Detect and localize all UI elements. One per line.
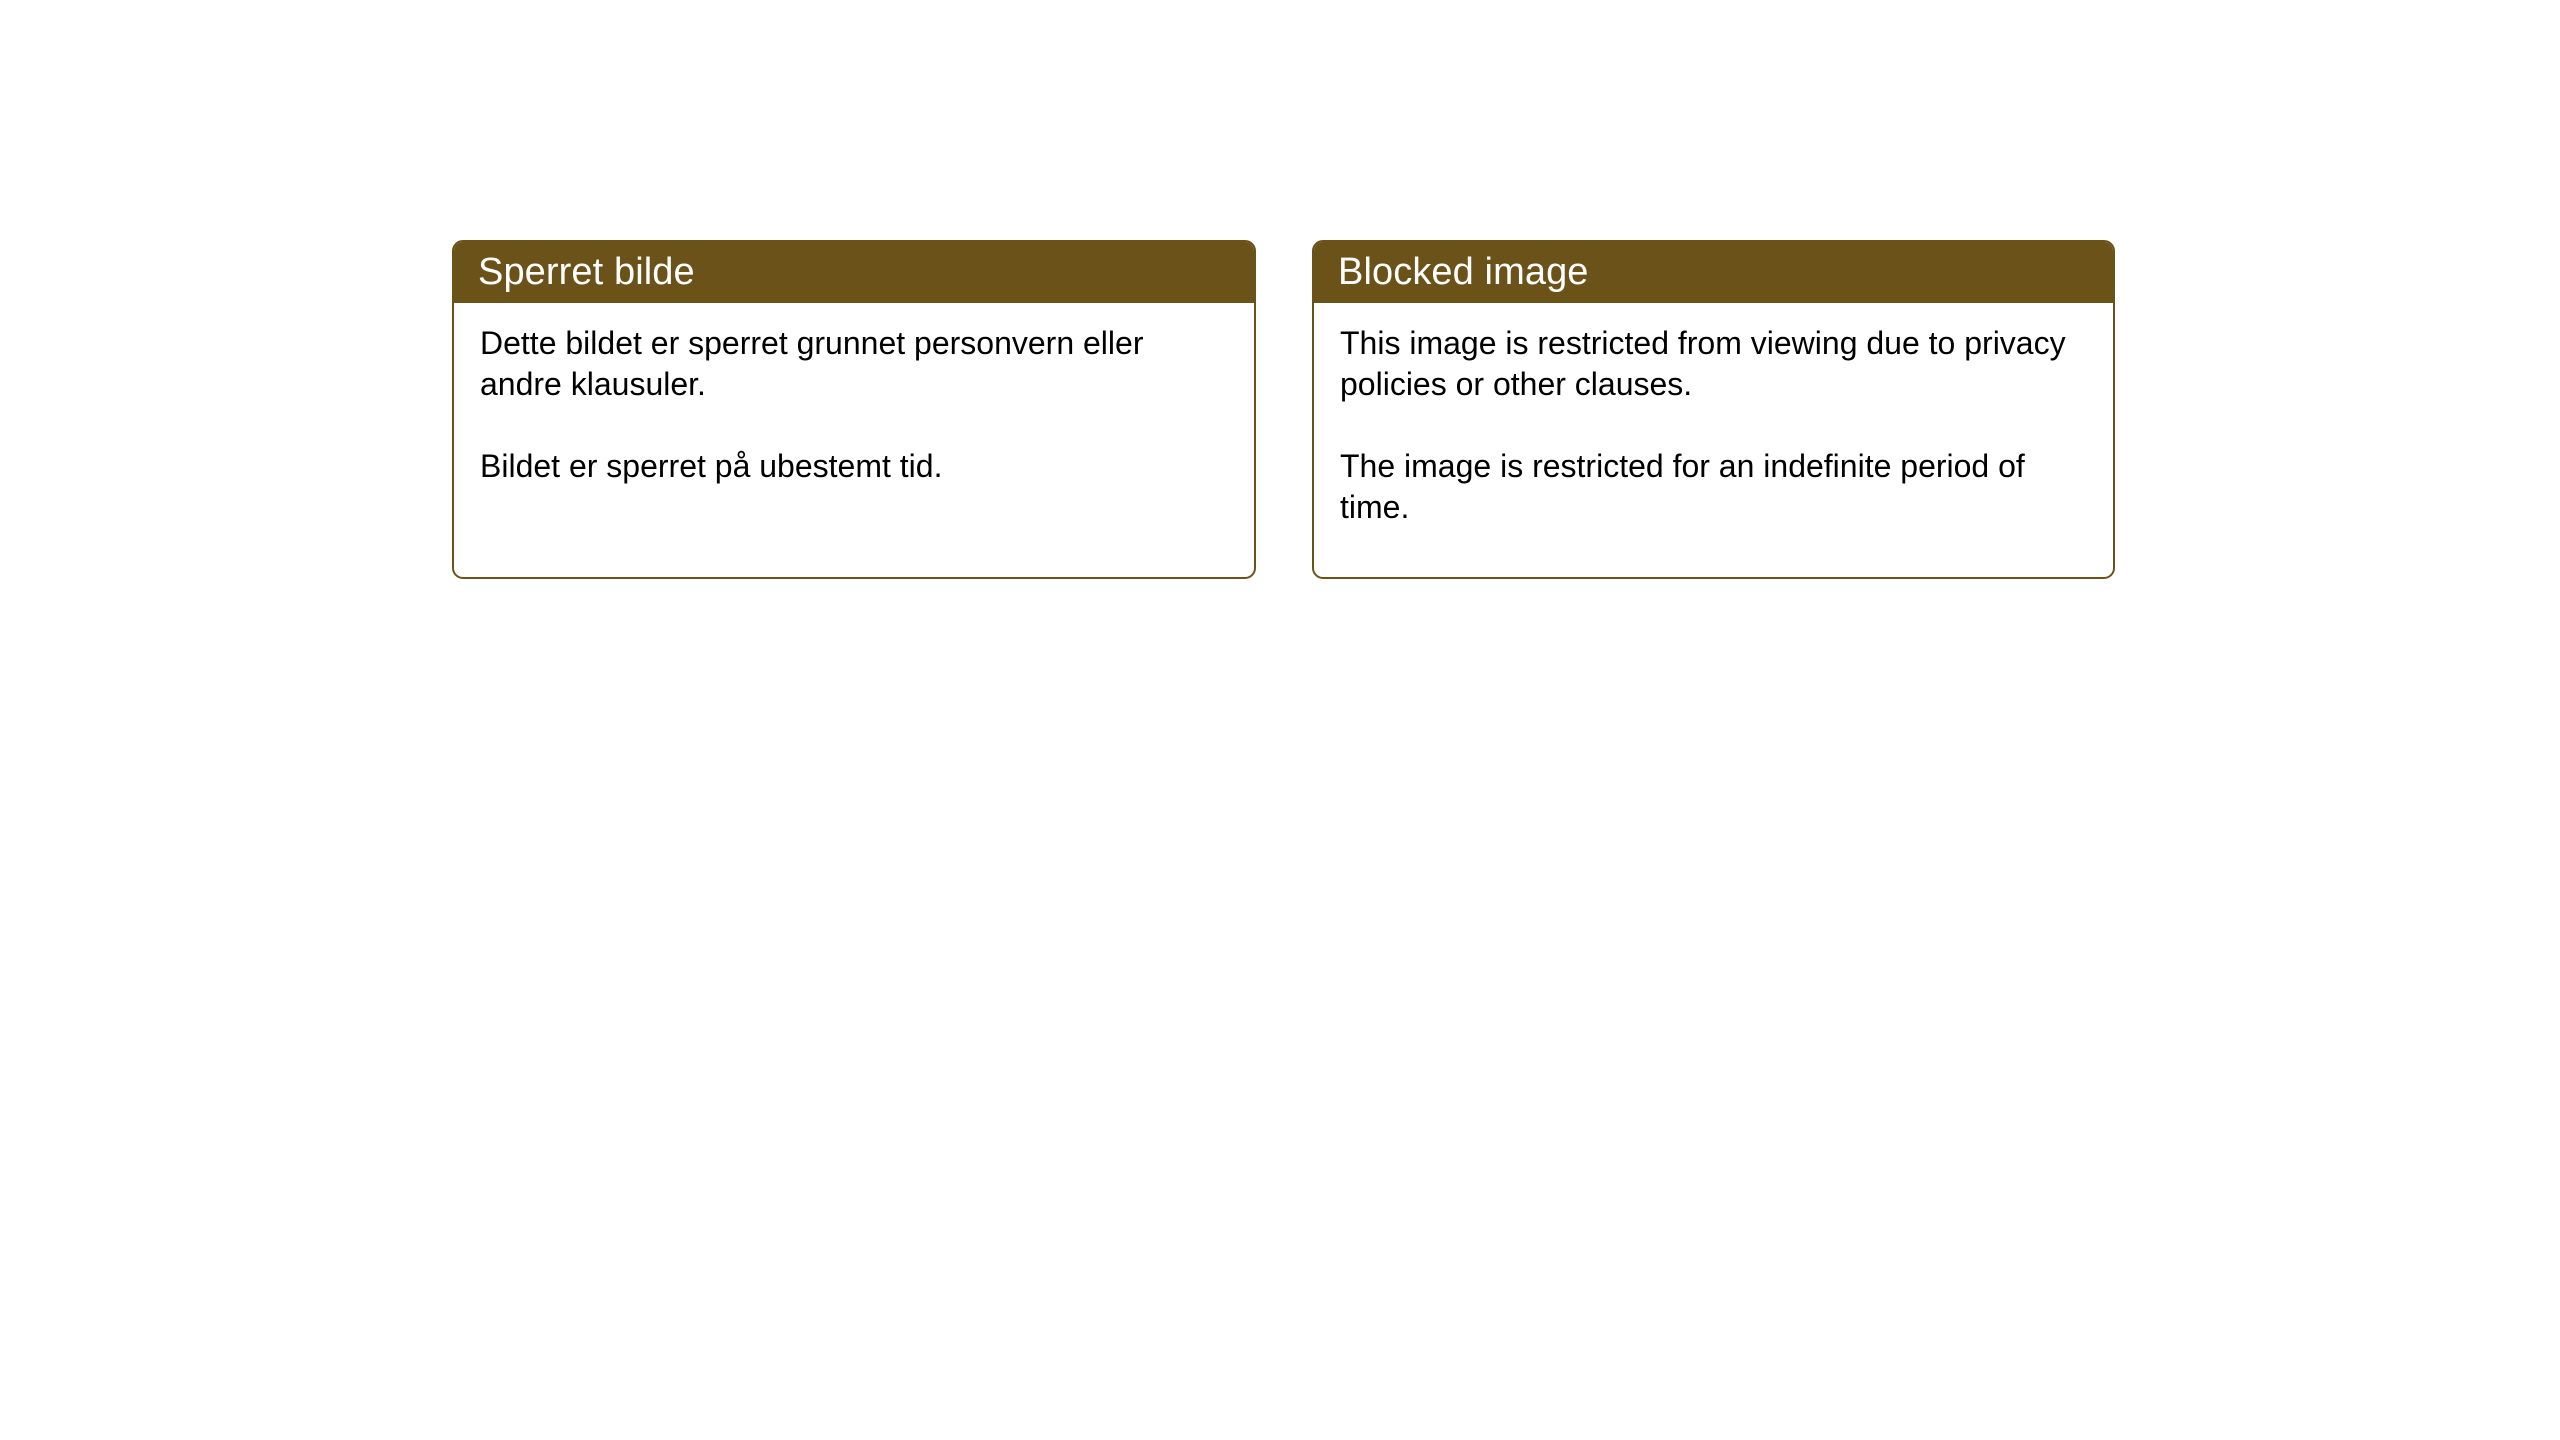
blocked-image-notice-english: Blocked image This image is restricted f…	[1312, 240, 2115, 579]
card-paragraph-reason-english: This image is restricted from viewing du…	[1340, 323, 2091, 405]
card-paragraph-duration-english: The image is restricted for an indefinit…	[1340, 446, 2091, 528]
blocked-image-notice-norwegian: Sperret bilde Dette bildet er sperret gr…	[452, 240, 1256, 579]
card-title-norwegian: Sperret bilde	[478, 250, 695, 294]
card-body-english: This image is restricted from viewing du…	[1314, 303, 2113, 528]
page-canvas: Sperret bilde Dette bildet er sperret gr…	[0, 0, 2560, 1440]
card-paragraph-reason-norwegian: Dette bildet er sperret grunnet personve…	[480, 323, 1232, 405]
card-body-norwegian: Dette bildet er sperret grunnet personve…	[454, 303, 1254, 487]
card-paragraph-duration-norwegian: Bildet er sperret på ubestemt tid.	[480, 446, 1232, 487]
card-title-english: Blocked image	[1338, 250, 1589, 294]
card-header-english: Blocked image	[1313, 241, 2114, 303]
card-header-norwegian: Sperret bilde	[453, 241, 1255, 303]
